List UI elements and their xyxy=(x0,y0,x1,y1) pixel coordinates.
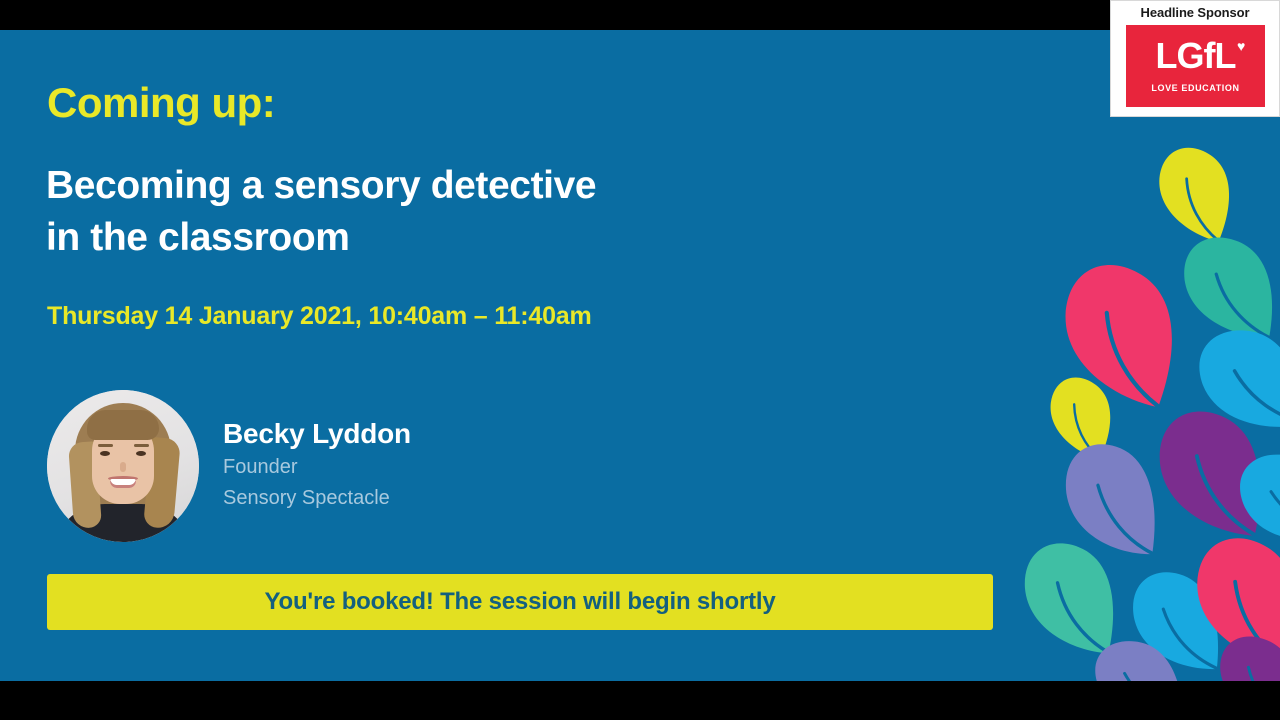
speaker-block: Becky Lyddon Founder Sensory Spectacle xyxy=(47,390,647,550)
leaf-purple-low xyxy=(1211,631,1280,681)
speaker-organisation: Sensory Spectacle xyxy=(223,487,390,510)
leaf-cyan-bottom xyxy=(1129,570,1223,670)
letterbox-bar-top xyxy=(0,0,1280,30)
leaf-midrib xyxy=(1235,364,1280,430)
leaf-decoration-panel xyxy=(1000,30,1280,681)
video-frame: Coming up: Becoming a sensory detective … xyxy=(0,0,1280,720)
leaf-cyan-right xyxy=(1235,446,1280,552)
leaf-midrib xyxy=(1059,404,1115,458)
leaf-teal-upper xyxy=(1176,233,1280,339)
leaf-midrib xyxy=(1084,313,1179,406)
leaf-yellow-top xyxy=(1144,140,1246,243)
webinar-holding-slide: Coming up: Becoming a sensory detective … xyxy=(0,30,1280,681)
session-title-line-1: Becoming a sensory detective xyxy=(46,160,766,212)
coming-up-kicker: Coming up: xyxy=(47,82,275,124)
leaf-midrib xyxy=(1047,583,1118,652)
headline-sponsor-label: Headline Sponsor xyxy=(1111,5,1279,20)
leaf-midrib xyxy=(1185,456,1265,534)
leaf-pink-large xyxy=(1045,254,1197,409)
speaker-role: Founder xyxy=(223,456,298,479)
heart-icon: ♥ xyxy=(1237,39,1250,51)
leaf-midrib xyxy=(1125,670,1182,681)
avatar xyxy=(47,390,199,542)
leaf-midrib xyxy=(1170,179,1234,241)
speaker-headshot-image xyxy=(47,390,199,542)
leaf-periwinkle-low xyxy=(1093,638,1183,681)
leaf-purple-large xyxy=(1148,405,1275,536)
leaf-midrib xyxy=(1239,667,1280,681)
page-title: Becoming a sensory detective in the clas… xyxy=(46,160,766,265)
leaf-periwinkle xyxy=(1059,441,1163,555)
status-badge: You're booked! The session will begin sh… xyxy=(47,574,993,630)
leaf-midrib xyxy=(1217,582,1280,665)
leaf-midrib xyxy=(1159,609,1219,668)
lgfl-tagline: LOVE EDUCATION xyxy=(1126,83,1265,93)
leaf-pink-bottom xyxy=(1180,529,1280,667)
leaf-midrib xyxy=(1092,485,1158,553)
session-title-line-2: in the classroom xyxy=(46,212,766,264)
lgfl-logo: LGfL ♥ LOVE EDUCATION xyxy=(1126,25,1265,107)
speaker-name: Becky Lyddon xyxy=(223,418,411,450)
leaf-midrib xyxy=(1209,274,1276,337)
leaf-midrib xyxy=(1271,482,1280,545)
leaf-pattern-svg xyxy=(1000,30,1280,681)
status-badge-label: You're booked! The session will begin sh… xyxy=(264,588,775,616)
leaf-cyan-mid xyxy=(1196,324,1280,435)
letterbox-bar-bottom xyxy=(0,681,1280,720)
headline-sponsor-card: Headline Sponsor LGfL ♥ LOVE EDUCATION xyxy=(1110,0,1280,117)
session-datetime: Thursday 14 January 2021, 10:40am – 11:4… xyxy=(47,302,592,331)
leaf-green-bottom xyxy=(1014,538,1126,654)
leaf-yellow-mid xyxy=(1037,370,1126,460)
